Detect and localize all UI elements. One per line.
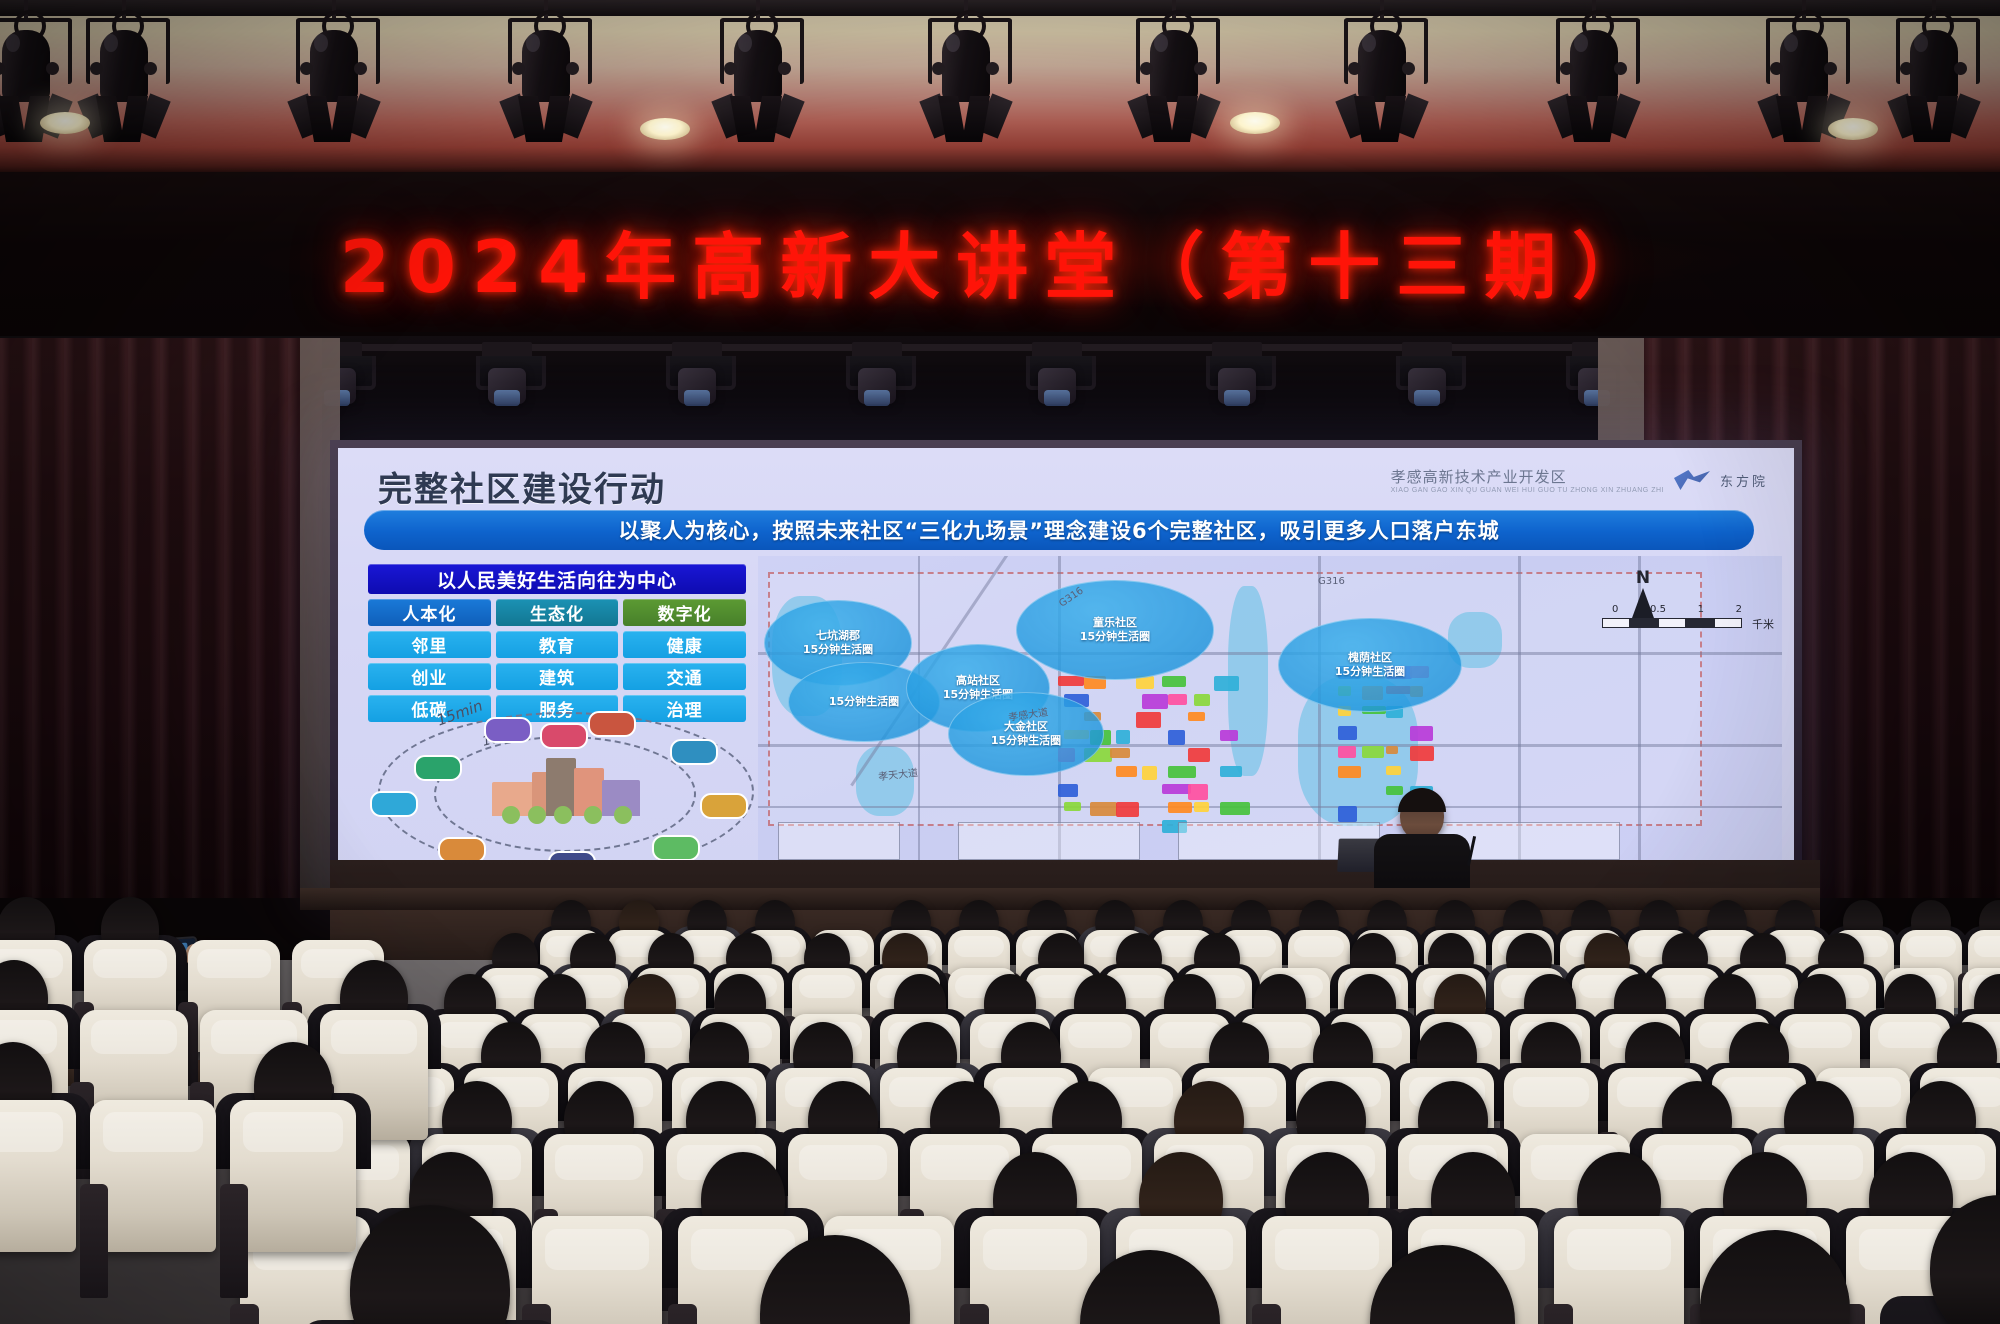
seat-side-panel [1252,1304,1281,1324]
presenter-hair [1398,788,1446,812]
land-use-parcel [1338,726,1357,740]
land-use-parcel [1338,806,1357,822]
community-name: 童乐社区 [1093,616,1137,630]
slide-title: 完整社区建设行动 [378,462,666,511]
seat-side-panel [960,1304,989,1324]
org-mark-text: 东方院 [1720,471,1768,490]
auditorium-seat [90,1100,216,1252]
seat-side-panel [668,1304,697,1324]
tree-icon [502,806,520,824]
community-life-circle: 大金社区15分钟生活圈 [948,692,1104,776]
concept-cell: 创业 [368,663,491,690]
concept-column-header: 人本化 [368,599,491,626]
ceiling-downlight [640,118,690,140]
concept-column-header: 数字化 [623,599,746,626]
event-banner-title: 2024年高新大讲堂（第十三期） [0,208,2000,313]
bank-icon [484,717,532,743]
stage-spotlight [1888,4,1980,154]
compass-north-label: N [1620,568,1666,588]
auditorium-seat [532,1216,662,1324]
community-name: 高站社区 [956,674,1000,688]
land-use-parcel [1110,748,1130,758]
gym-icon [670,739,718,765]
slide-headline-banner: 以聚人为核心，按照未来社区“三化九场景”理念建设6个完整社区，吸引更多人口落户东… [364,510,1754,550]
moving-head-light [840,342,914,414]
scale-seg [1602,618,1630,628]
land-use-parcel [1338,766,1361,778]
tree-icon [554,806,572,824]
fifteen-minute-life-circle-diagram: 15min 10min [374,706,754,876]
land-use-parcel [1220,802,1250,815]
land-use-parcel [1338,746,1356,758]
scale-seg [1658,618,1686,628]
land-use-parcel [1116,802,1139,817]
moving-head-light [1200,342,1274,414]
stage-spotlight [1548,4,1640,154]
concept-cell: 健康 [623,631,746,658]
seat-side-panel [1544,1304,1573,1324]
scale-unit-label: 千米 [1752,616,1774,632]
market-icon [588,711,636,737]
land-use-parcel [1386,746,1398,754]
seat-side-panel [220,1184,248,1298]
concept-cell: 建筑 [496,663,619,690]
road-line [758,652,1782,655]
auditorium-seat [0,1100,76,1252]
land-use-parcel [1116,730,1130,744]
community-radius-label: 15分钟生活圈 [991,734,1061,748]
scale-bar [1602,618,1742,628]
scale-tick: 0.5 [1650,604,1666,615]
led-banner: 2024年高新大讲堂（第十三期） [0,172,2000,332]
concept-table: 以人民美好生活向往为中心 人本化生态化数字化 邻里教育健康创业建筑交通低碳服务治… [368,564,746,722]
concept-cell: 邻里 [368,631,491,658]
ceiling-downlight [1230,112,1280,134]
community-radius-label: 15分钟生活圈 [1080,630,1150,644]
dining-icon [414,755,462,781]
stage-spotlight [712,4,804,154]
land-use-parcel [1220,730,1238,741]
land-use-parcel [1058,784,1078,797]
scale-tick: 0 [1612,604,1618,615]
road-line [758,806,1782,808]
land-use-parcel [1142,694,1168,709]
presenter [1372,790,1472,895]
org-pinyin: XIAO GAN GAO XIN QU GUAN WEI HUI GUO TU … [1391,487,1664,494]
proscenium-wall: 2024年高新大讲堂（第十三期） [0,172,2000,357]
org-name: 孝感高新技术产业开发区 [1391,466,1664,487]
moving-head-light [1390,342,1464,414]
community-life-circle: 童乐社区15分钟生活圈 [1016,580,1214,680]
seat-side-panel [230,1304,259,1324]
auditorium-seat [230,1100,356,1252]
land-use-parcel [1362,746,1384,758]
land-use-parcel [1136,712,1161,728]
concept-table-header: 以人民美好生活向往为中心 [368,564,746,594]
scale-tick: 1 [1698,604,1704,615]
land-use-parcel [1090,802,1117,816]
library-icon [700,793,748,819]
land-use-parcel [1116,766,1137,777]
presentation-slide: 完整社区建设行动 孝感高新技术产业开发区 XIAO GAN GAO XIN QU… [338,448,1794,882]
clinic-icon [370,791,418,817]
land-use-parcel [1058,676,1084,686]
concept-cell: 教育 [496,631,619,658]
land-use-parcel [1064,802,1081,811]
map-legend-box [778,822,900,860]
community-radius-label: 15分钟生活圈 [803,643,873,657]
land-use-parcel [1194,694,1210,706]
land-use-parcel [1162,676,1186,687]
concept-cell: 交通 [623,663,746,690]
land-use-parcel [1142,766,1157,780]
community-name: 槐荫社区 [1348,651,1392,665]
land-use-parcel [1214,676,1239,691]
concept-column-header: 生态化 [496,599,619,626]
land-use-parcel [1188,784,1208,800]
stage-curtain-left [0,338,322,898]
tree-icon [584,806,602,824]
logo-mark-icon [1674,470,1710,490]
moving-head-light [1020,342,1094,414]
road-label: G316 [1318,576,1345,587]
land-use-parcel [1410,746,1434,761]
seat-side-panel [80,1184,108,1298]
concept-table-row: 邻里教育健康 [368,631,746,658]
land-use-parcel [1188,748,1210,762]
stage-spotlight [500,4,592,154]
land-use-parcel [1188,712,1205,721]
park-icon [652,835,700,861]
scale-tick: 2 [1736,604,1742,615]
community-radius-label: 15分钟生活圈 [829,695,899,709]
tree-icon [614,806,632,824]
map-legend-box [958,822,1140,860]
stage-spotlight [1128,4,1220,154]
moving-head-light [660,342,734,414]
community-radius-label: 15分钟生活圈 [1335,665,1405,679]
tree-icon [528,806,546,824]
concept-table-columns: 人本化生态化数字化 [368,599,746,626]
land-use-parcel [1410,726,1433,741]
planning-map: N 00.512 千米 七坑湖郡15分钟生活圈15分钟生活圈高站社区15分钟生活… [758,556,1782,874]
scale-tick-labels: 00.512 [1612,604,1742,615]
land-use-parcel [1194,802,1209,812]
road-line [758,744,1782,747]
land-use-parcel [1168,730,1185,745]
city-illustration [492,758,640,830]
ceiling-downlight [1828,118,1878,140]
land-use-parcel [1162,784,1191,794]
auditorium-seat [1554,1216,1684,1324]
stage-spotlight [1336,4,1428,154]
led-screen-frame: 完整社区建设行动 孝感高新技术产业开发区 XIAO GAN GAO XIN QU… [330,440,1802,890]
slide-headline: 以聚人为核心，按照未来社区“三化九场景”理念建设6个完整社区，吸引更多人口落户东… [618,515,1499,545]
land-use-parcel [1220,766,1242,777]
land-use-parcel [1168,694,1187,705]
auditorium-photo: 2024年高新大讲堂（第十三期） 完整社区建设行动 孝感高新技术产业开发区 XI… [0,0,2000,1324]
ceiling-downlight [40,112,90,134]
concept-table-row: 创业建筑交通 [368,663,746,690]
community-name: 七坑湖郡 [816,629,860,643]
land-use-parcel [1168,802,1192,813]
organization-logo: 孝感高新技术产业开发区 XIAO GAN GAO XIN QU GUAN WEI… [1391,466,1768,494]
moving-head-light [470,342,544,414]
community-life-circle: 槐荫社区15分钟生活圈 [1278,618,1462,712]
land-use-parcel [1386,766,1401,775]
scale-seg [1714,618,1742,628]
scale-seg [1686,618,1714,628]
stage-spotlight [288,4,380,154]
shopping-icon [540,723,588,749]
scale-seg [1630,618,1658,628]
land-use-parcel [1168,766,1196,778]
stage-spotlight [78,4,170,154]
stage-spotlight [920,4,1012,154]
